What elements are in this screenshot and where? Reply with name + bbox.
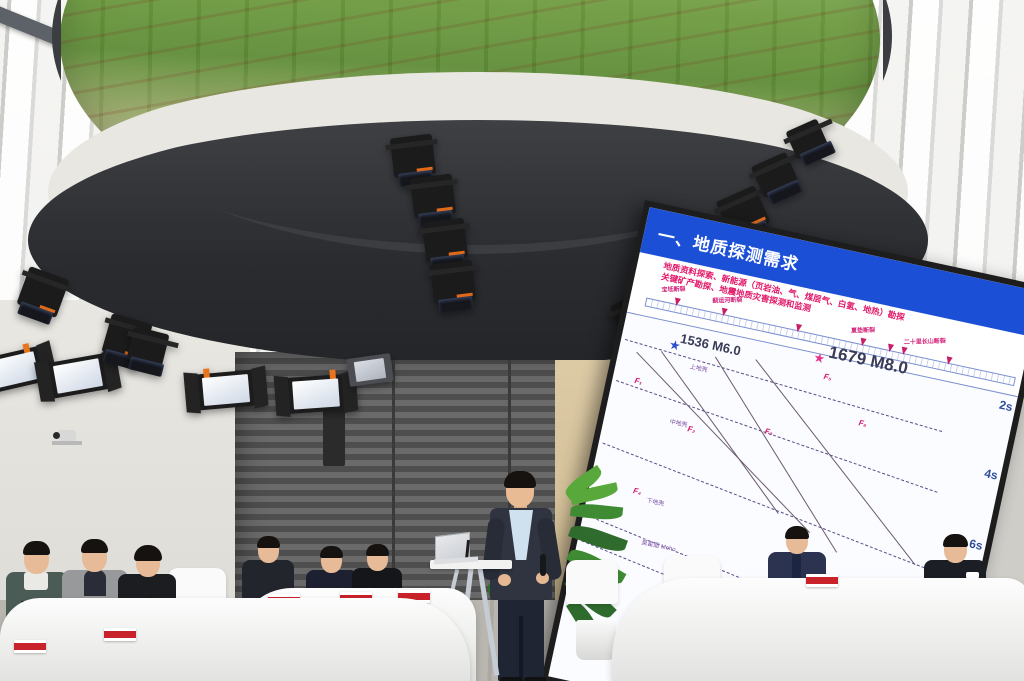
studio-spotlight	[422, 218, 469, 263]
plant-pot	[576, 620, 616, 660]
presenter-shoe	[500, 677, 522, 681]
chair	[566, 560, 618, 604]
studio-spotlight	[430, 260, 477, 305]
presenter-hair	[504, 471, 536, 488]
name-placard	[806, 574, 838, 587]
fault-label-f1: F₁	[634, 376, 643, 386]
camera-bracket	[52, 441, 82, 445]
studio-panel-light	[195, 369, 258, 410]
axis-fault-name: 宝坻断裂	[661, 284, 685, 294]
handheld-microphone	[540, 554, 546, 576]
axis-fault-name: 蓟运河断裂	[712, 295, 742, 305]
presenter-shoe	[524, 677, 546, 681]
axis-fault-name: 二十里长山断裂	[904, 336, 946, 346]
axis-fault-name: 夏垫断裂	[851, 325, 875, 335]
studio-panel-light	[285, 374, 347, 414]
name-placard	[14, 640, 46, 653]
audience-desk-front	[0, 598, 470, 681]
security-camera-icon	[58, 430, 76, 441]
studio-spotlight	[390, 134, 437, 179]
presenter-hand-left	[498, 574, 511, 586]
presenter-legs	[498, 596, 544, 681]
audience-desk-back	[612, 578, 1024, 681]
studio-scene: 一、地质探测需求 地质资料探索、新能源（页岩油、气、煤层气、白氢、地热）勘探 关…	[0, 0, 1024, 681]
name-placard	[104, 628, 136, 641]
studio-spotlight	[410, 174, 457, 219]
